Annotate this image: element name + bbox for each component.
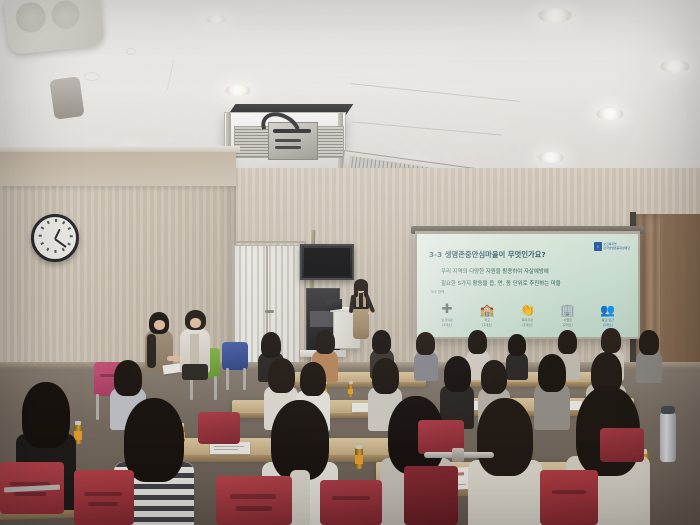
- chair-leg: [243, 368, 246, 390]
- chair-red[interactable]: [216, 476, 292, 525]
- chair-leg: [96, 394, 99, 420]
- chair-leg: [214, 376, 217, 400]
- wall-monitor: [300, 244, 354, 280]
- wall-header-band: [0, 150, 236, 186]
- ceiling-light: [225, 85, 251, 96]
- audience-member: [636, 330, 662, 380]
- presenter-hair: [364, 285, 368, 297]
- projection-screen: 3-3 생명존중안심마을이 무엇인가요? 우리 지역의 다양한 자원을 활용하여…: [417, 234, 638, 337]
- presenter-hand: [368, 311, 372, 315]
- seminar-room-photo: 3-3 생명존중안심마을이 무엇인가요? 우리 지역의 다양한 자원을 활용하여…: [0, 0, 700, 525]
- attendee-arm: [167, 356, 181, 361]
- attendee-trousers: [182, 364, 208, 380]
- chair-leg: [226, 368, 229, 390]
- monitor-screen: [304, 248, 350, 276]
- front-row-attendee: [180, 310, 212, 382]
- armrest-bracket: [452, 448, 464, 462]
- thermos: [660, 412, 676, 462]
- presenter: [350, 281, 372, 347]
- drink-bottle: [348, 384, 353, 397]
- ceiling-light: [206, 15, 226, 24]
- ceiling-fitting: [84, 72, 100, 81]
- audience-member: [414, 332, 438, 378]
- ceiling-fitting: [126, 48, 136, 55]
- wall-trim: [0, 146, 240, 152]
- attendee-face: [190, 318, 201, 328]
- speaker-grill: [49, 76, 84, 120]
- chair-red[interactable]: [320, 480, 382, 525]
- thermos-cap: [661, 406, 675, 414]
- ceiling-light: [538, 152, 564, 163]
- attendee-face: [154, 320, 165, 330]
- chair-red[interactable]: [404, 466, 458, 525]
- drink-bottle: [355, 448, 363, 469]
- chair-red[interactable]: [600, 428, 644, 462]
- ceiling-light: [660, 60, 690, 73]
- ceiling-light: [596, 108, 624, 120]
- presenter-overalls: [353, 305, 369, 339]
- audience-member: [468, 398, 542, 525]
- wall-clock: [31, 214, 79, 262]
- chair-red[interactable]: [540, 470, 598, 525]
- screen-glare: [417, 234, 638, 337]
- chair-red[interactable]: [74, 470, 134, 525]
- ponytail-shadow: [290, 470, 310, 525]
- presenter-hair: [354, 285, 358, 297]
- chair-blue[interactable]: [222, 342, 248, 370]
- attendee-inner-top: [147, 334, 156, 368]
- chair-red[interactable]: [198, 412, 240, 444]
- ceiling-light: [538, 8, 572, 23]
- door-handle[interactable]: [265, 310, 274, 313]
